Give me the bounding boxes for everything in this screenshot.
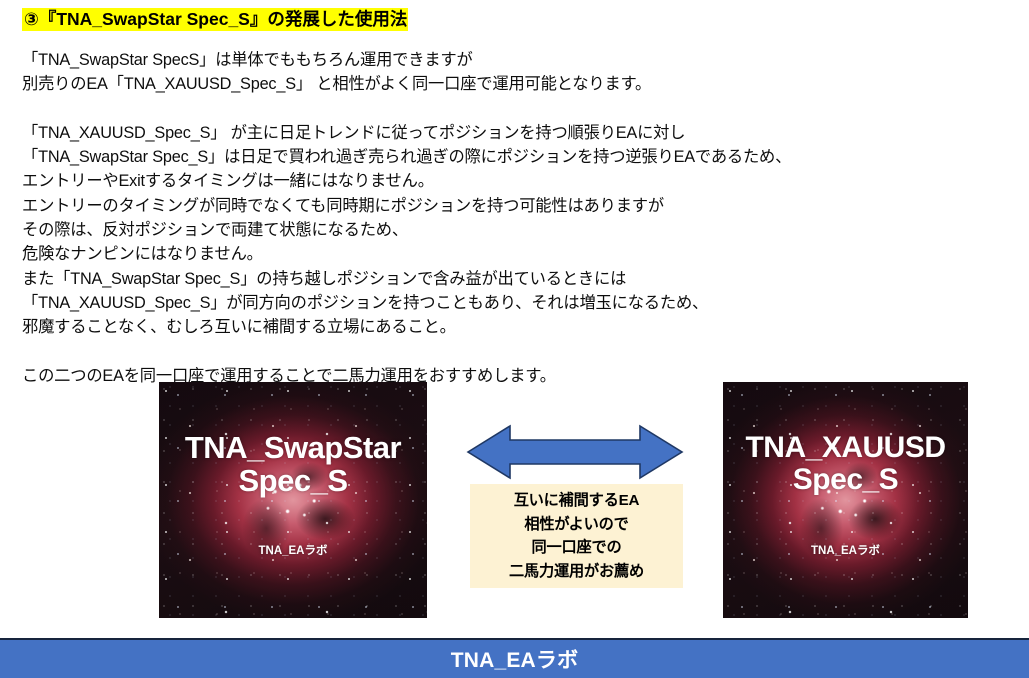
body-line: 「TNA_SwapStar Spec_S」は日足で買われ過ぎ売られ過ぎの際にポジ…	[22, 145, 1012, 169]
product-card-swapstar: TNA_SwapStar Spec_S TNA_EAラボ	[159, 382, 427, 618]
body-line: 「TNA_SwapStar SpecS」は単体でももちろん運用できますが	[22, 48, 1012, 72]
product-card-subtitle: TNA_EAラボ	[723, 542, 968, 558]
product-card-title-line1: TNA_XAUUSD	[723, 432, 968, 464]
product-card-xauusd: TNA_XAUUSD Spec_S TNA_EAラボ	[723, 382, 968, 618]
body-line: 邪魔することなく、むしろ互いに補間する立場にあること。	[22, 315, 1012, 339]
footer-banner-text: TNA_EAラボ	[451, 644, 579, 674]
body-line-spacer	[22, 340, 1012, 364]
page-title: ③『TNA_SwapStar Spec_S』の発展した使用法	[22, 7, 408, 31]
product-card-title-line2: Spec_S	[723, 464, 968, 496]
body-line: また「TNA_SwapStar Spec_S」の持ち越しポジションで含み益が出て…	[22, 267, 1012, 291]
body-line-spacer	[22, 97, 1012, 121]
callout-line: 互いに補間するEA	[514, 489, 640, 513]
body-line: 別売りのEA「TNA_XAUUSD_Spec_S」 と相性がよく同一口座で運用可…	[22, 72, 1012, 96]
body-text-block: 「TNA_SwapStar SpecS」は単体でももちろん運用できますが 別売り…	[22, 48, 1012, 388]
callout-box: 互いに補間するEA 相性がよいので 同一口座での 二馬力運用がお薦め	[470, 484, 683, 588]
callout-line: 相性がよいので	[524, 513, 628, 537]
product-card-title: TNA_SwapStar Spec_S	[159, 432, 427, 498]
product-card-title-line1: TNA_SwapStar	[159, 432, 427, 465]
callout-line: 二馬力運用がお薦め	[509, 560, 644, 584]
body-line: エントリーやExitするタイミングは一緒にはなりません。	[22, 169, 1012, 193]
body-line: 「TNA_XAUUSD_Spec_S」 が主に日足トレンドに従ってポジションを持…	[22, 121, 1012, 145]
product-card-title: TNA_XAUUSD Spec_S	[723, 432, 968, 496]
body-line: その際は、反対ポジションで両建て状態になるため、	[22, 218, 1012, 242]
page-title-text: ③『TNA_SwapStar Spec_S』の発展した使用法	[22, 8, 408, 31]
body-line: エントリーのタイミングが同時でなくても同時期にポジションを持つ可能性はありますが	[22, 194, 1012, 218]
callout-line: 同一口座での	[532, 536, 622, 560]
body-line: 「TNA_XAUUSD_Spec_S」が同方向のポジションを持つこともあり、それ…	[22, 291, 1012, 315]
product-card-title-line2: Spec_S	[159, 465, 427, 498]
footer-banner: TNA_EAラボ	[0, 638, 1029, 678]
body-line: 危険なナンピンにはなりません。	[22, 242, 1012, 266]
slide-root: ③『TNA_SwapStar Spec_S』の発展した使用法 「TNA_Swap…	[0, 0, 1029, 678]
double-arrow-icon	[466, 424, 684, 480]
product-card-subtitle: TNA_EAラボ	[159, 542, 427, 558]
